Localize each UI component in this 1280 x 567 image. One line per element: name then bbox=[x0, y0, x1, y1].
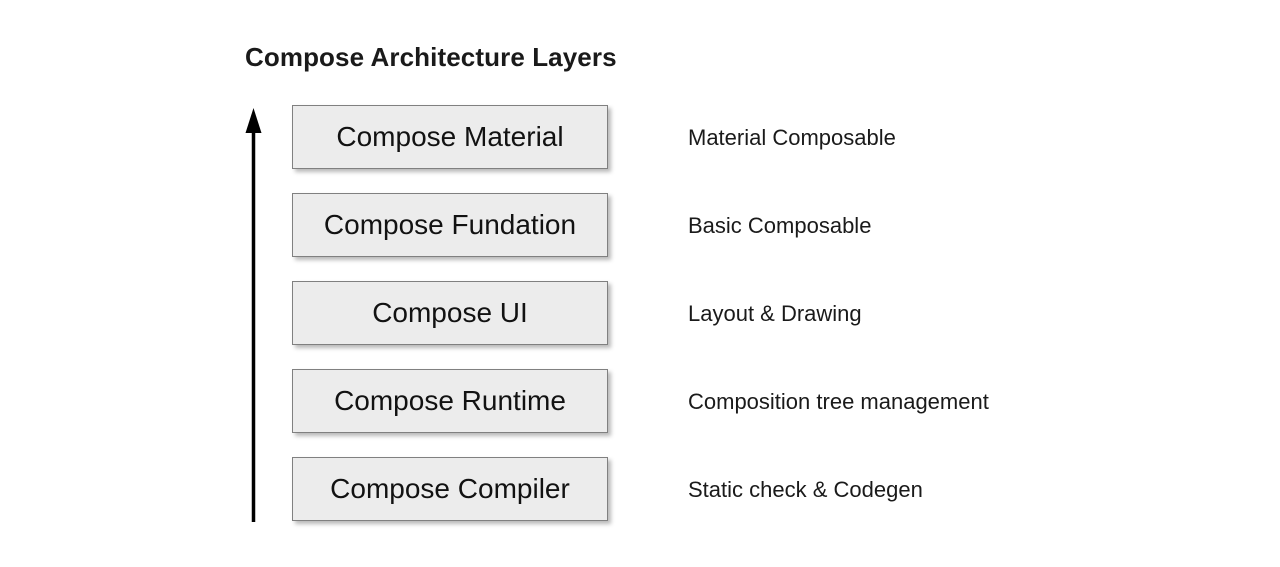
layer-box-compose-material[interactable]: Compose Material bbox=[292, 105, 608, 169]
note-label-basic-composable: Basic Composable bbox=[688, 213, 871, 239]
layer-row: Compose Material bbox=[292, 105, 612, 171]
note-row: Material Composable bbox=[688, 105, 1248, 171]
layer-box-compose-fundation[interactable]: Compose Fundation bbox=[292, 193, 608, 257]
note-row: Layout & Drawing bbox=[688, 281, 1248, 347]
layer-box-label: Compose Runtime bbox=[334, 386, 566, 416]
note-label-material-composable: Material Composable bbox=[688, 125, 896, 151]
layer-row: Compose Compiler bbox=[292, 457, 612, 523]
architecture-diagram: Compose Architecture Layers Compose Mate… bbox=[0, 0, 1280, 567]
layer-box-label: Compose Fundation bbox=[324, 210, 576, 240]
note-row: Static check & Codegen bbox=[688, 457, 1248, 523]
page-title: Compose Architecture Layers bbox=[245, 40, 617, 74]
note-label-layout-drawing: Layout & Drawing bbox=[688, 301, 862, 327]
layer-box-label: Compose Material bbox=[336, 122, 563, 152]
up-arrow-icon bbox=[240, 105, 270, 525]
layer-row: Compose UI bbox=[292, 281, 612, 347]
layer-box-compose-runtime[interactable]: Compose Runtime bbox=[292, 369, 608, 433]
layer-box-label: Compose UI bbox=[372, 298, 528, 328]
note-label-composition-tree-management: Composition tree management bbox=[688, 389, 989, 415]
layer-box-compose-compiler[interactable]: Compose Compiler bbox=[292, 457, 608, 521]
layer-box-label: Compose Compiler bbox=[330, 474, 570, 504]
note-row: Basic Composable bbox=[688, 193, 1248, 259]
note-row: Composition tree management bbox=[688, 369, 1248, 435]
note-label-static-check-codegen: Static check & Codegen bbox=[688, 477, 923, 503]
layer-stack: Compose Material Compose Fundation Compo… bbox=[292, 105, 612, 523]
layer-row: Compose Fundation bbox=[292, 193, 612, 259]
layer-notes: Material Composable Basic Composable Lay… bbox=[688, 105, 1248, 523]
layer-row: Compose Runtime bbox=[292, 369, 612, 435]
layer-box-compose-ui[interactable]: Compose UI bbox=[292, 281, 608, 345]
